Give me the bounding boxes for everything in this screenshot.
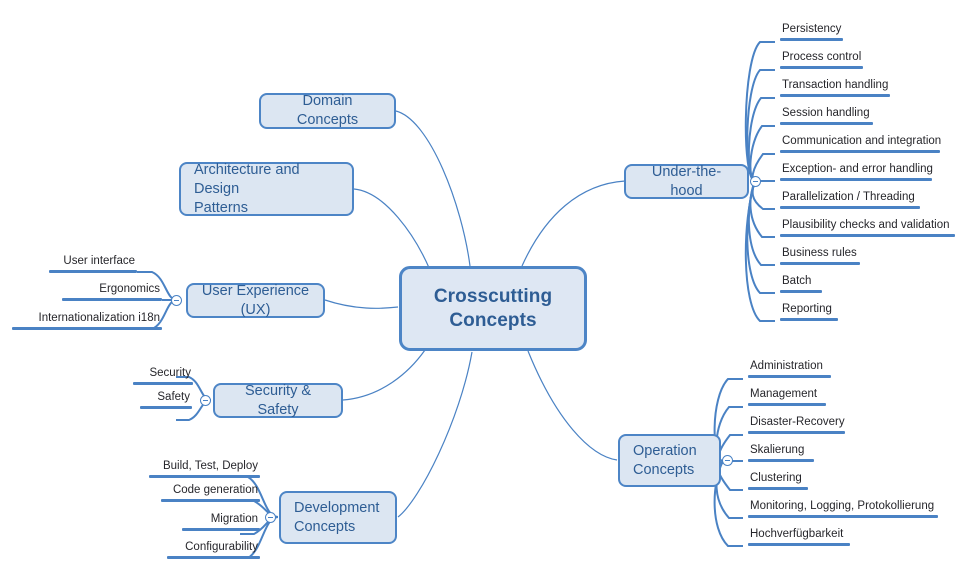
leaf-ux-ergonomics-label: Ergonomics: [62, 282, 162, 298]
branch-security-safety-label: Security & Safety: [228, 382, 328, 420]
branch-architecture-patterns[interactable]: Architecture and Design Patterns: [179, 162, 354, 216]
leaf-underline: [748, 459, 814, 462]
root-title-line1: Crosscutting: [434, 286, 552, 307]
leaf-op-management-label: Management: [748, 387, 826, 403]
leaf-underline: [167, 556, 260, 559]
leaf-uth-reporting-label: Reporting: [780, 302, 838, 318]
leaf-ux-internationalization[interactable]: Internationalization i18n: [12, 311, 162, 330]
leaf-underline: [12, 327, 162, 330]
leaf-dev-build-test-deploy[interactable]: Build, Test, Deploy: [149, 459, 260, 478]
leaf-dev-configurability-label: Configurability: [167, 540, 260, 556]
leaf-underline: [780, 262, 860, 265]
leaf-underline: [133, 382, 193, 385]
leaf-safety[interactable]: Safety: [140, 390, 192, 409]
leaf-uth-transaction-handling[interactable]: Transaction handling: [780, 78, 890, 97]
leaf-uth-process-control-label: Process control: [780, 50, 863, 66]
leaf-uth-exception-error-handling-label: Exception- and error handling: [780, 162, 932, 178]
leaf-dev-configurability[interactable]: Configurability: [167, 540, 260, 559]
leaf-uth-persistency[interactable]: Persistency: [780, 22, 843, 41]
toggle-operation-concepts[interactable]: [722, 455, 733, 466]
leaf-uth-exception-error-handling[interactable]: Exception- and error handling: [780, 162, 932, 181]
leaf-security-label: Security: [133, 366, 193, 382]
root-title-line2: Concepts: [449, 310, 536, 331]
branch-operation-concepts-label-line2: Concepts: [633, 462, 694, 478]
leaf-uth-session-handling[interactable]: Session handling: [780, 106, 873, 125]
leaf-underline: [748, 403, 826, 406]
leaf-uth-persistency-label: Persistency: [780, 22, 843, 38]
leaf-op-monitoring-logging[interactable]: Monitoring, Logging, Protokollierung: [748, 499, 938, 518]
leaf-op-skalierung-label: Skalierung: [748, 443, 814, 459]
leaf-uth-business-rules-label: Business rules: [780, 246, 860, 262]
leaf-uth-parallelization-threading-label: Parallelization / Threading: [780, 190, 920, 206]
branch-operation-concepts[interactable]: Operation Concepts: [618, 434, 721, 487]
leaf-security[interactable]: Security: [133, 366, 193, 385]
leaf-safety-label: Safety: [140, 390, 192, 406]
branch-under-the-hood-label: Under-the-hood: [639, 163, 734, 201]
leaf-uth-reporting[interactable]: Reporting: [780, 302, 838, 321]
leaf-dev-migration[interactable]: Migration: [182, 512, 260, 531]
leaf-underline: [780, 290, 822, 293]
leaf-ux-user-interface[interactable]: User interface: [49, 254, 137, 273]
leaf-underline: [780, 318, 838, 321]
leaf-op-administration[interactable]: Administration: [748, 359, 831, 378]
leaf-uth-plausibility-checks-label: Plausibility checks and validation: [780, 218, 955, 234]
toggle-user-experience[interactable]: [171, 295, 182, 306]
leaf-underline: [780, 150, 940, 153]
branch-domain-concepts[interactable]: Domain Concepts: [259, 93, 396, 129]
leaf-dev-code-generation-label: Code generation: [161, 483, 260, 499]
leaf-ux-internationalization-label: Internationalization i18n: [12, 311, 162, 327]
branch-user-experience[interactable]: User Experience (UX): [186, 283, 325, 318]
mindmap-canvas: Crosscutting Concepts Domain Concepts Ar…: [0, 0, 974, 576]
leaf-uth-batch[interactable]: Batch: [780, 274, 822, 293]
leaf-underline: [748, 543, 850, 546]
leaf-underline: [748, 487, 808, 490]
leaf-uth-batch-label: Batch: [780, 274, 822, 290]
leaf-underline: [780, 178, 932, 181]
branch-development-concepts-label-line2: Concepts: [294, 519, 355, 535]
leaf-op-administration-label: Administration: [748, 359, 831, 375]
leaf-underline: [748, 431, 845, 434]
leaf-uth-plausibility-checks[interactable]: Plausibility checks and validation: [780, 218, 955, 237]
leaf-underline: [140, 406, 192, 409]
leaf-uth-communication-integration[interactable]: Communication and integration: [780, 134, 940, 153]
leaf-op-clustering-label: Clustering: [748, 471, 808, 487]
branch-architecture-patterns-label-line1: Architecture and Design: [194, 162, 300, 197]
leaf-uth-communication-integration-label: Communication and integration: [780, 134, 940, 150]
leaf-op-skalierung[interactable]: Skalierung: [748, 443, 814, 462]
branch-security-safety[interactable]: Security & Safety: [213, 383, 343, 418]
leaf-underline: [780, 94, 890, 97]
leaf-op-disaster-recovery[interactable]: Disaster-Recovery: [748, 415, 845, 434]
leaf-op-monitoring-logging-label: Monitoring, Logging, Protokollierung: [748, 499, 938, 515]
leaf-uth-transaction-handling-label: Transaction handling: [780, 78, 890, 94]
branch-domain-concepts-label: Domain Concepts: [274, 92, 381, 130]
leaf-op-hochverfuegbarkeit[interactable]: Hochverfügbarkeit: [748, 527, 850, 546]
leaf-uth-business-rules[interactable]: Business rules: [780, 246, 860, 265]
leaf-uth-session-handling-label: Session handling: [780, 106, 873, 122]
branch-operation-concepts-label-line1: Operation: [633, 443, 697, 459]
leaf-underline: [182, 528, 260, 531]
leaf-underline: [780, 66, 863, 69]
toggle-under-the-hood[interactable]: [750, 176, 761, 187]
leaf-underline: [780, 38, 843, 41]
branch-under-the-hood[interactable]: Under-the-hood: [624, 164, 749, 199]
branch-development-concepts-label-line1: Development: [294, 500, 379, 516]
branch-user-experience-label: User Experience (UX): [201, 282, 310, 320]
leaf-ux-ergonomics[interactable]: Ergonomics: [62, 282, 162, 301]
root-node[interactable]: Crosscutting Concepts: [399, 266, 587, 351]
toggle-development-concepts[interactable]: [265, 512, 276, 523]
leaf-underline: [149, 475, 260, 478]
leaf-underline: [748, 515, 938, 518]
leaf-dev-build-test-deploy-label: Build, Test, Deploy: [149, 459, 260, 475]
leaf-underline: [748, 375, 831, 378]
leaf-underline: [62, 298, 162, 301]
leaf-underline: [780, 206, 920, 209]
toggle-security-safety[interactable]: [200, 395, 211, 406]
leaf-dev-code-generation[interactable]: Code generation: [161, 483, 260, 502]
leaf-underline: [780, 122, 873, 125]
leaf-op-clustering[interactable]: Clustering: [748, 471, 808, 490]
leaf-underline: [49, 270, 137, 273]
leaf-op-management[interactable]: Management: [748, 387, 826, 406]
leaf-uth-parallelization-threading[interactable]: Parallelization / Threading: [780, 190, 920, 209]
leaf-underline: [780, 234, 955, 237]
leaf-op-disaster-recovery-label: Disaster-Recovery: [748, 415, 845, 431]
branch-architecture-patterns-label-line2: Patterns: [194, 200, 248, 216]
leaf-op-hochverfuegbarkeit-label: Hochverfügbarkeit: [748, 527, 850, 543]
branch-development-concepts[interactable]: Development Concepts: [279, 491, 397, 544]
leaf-underline: [161, 499, 260, 502]
leaf-uth-process-control[interactable]: Process control: [780, 50, 863, 69]
leaf-dev-migration-label: Migration: [182, 512, 260, 528]
leaf-ux-user-interface-label: User interface: [49, 254, 137, 270]
